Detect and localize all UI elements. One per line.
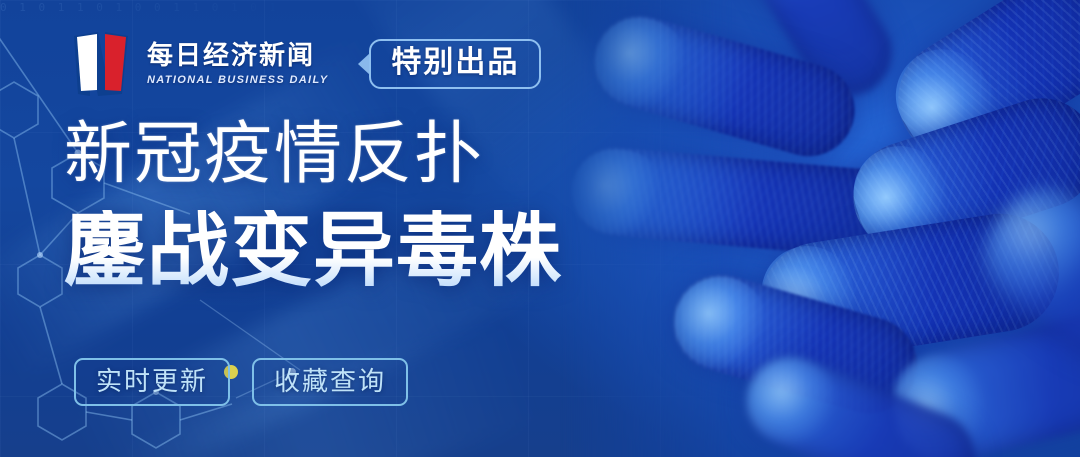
brand-logo-lockup[interactable]: 每日经济新闻 NATIONAL BUSINESS DAILY bbox=[64, 28, 328, 100]
action-buttons: 实时更新 收藏查询 bbox=[74, 358, 408, 406]
banner-header: 每日经济新闻 NATIONAL BUSINESS DAILY 特别出品 bbox=[64, 28, 541, 100]
brand-name-en: NATIONAL BUSINESS DAILY bbox=[147, 75, 328, 86]
headline-block: 新冠疫情反扑 鏖战变异毒株 bbox=[64, 120, 562, 292]
special-edition-badge-label: 特别出品 bbox=[369, 39, 541, 89]
headline-line-1: 新冠疫情反扑 bbox=[64, 120, 562, 188]
favorite-query-button[interactable]: 收藏查询 bbox=[252, 358, 408, 406]
realtime-update-button[interactable]: 实时更新 bbox=[74, 358, 230, 406]
headline-line-2: 鏖战变异毒株 bbox=[64, 210, 562, 292]
brand-name-cn: 每日经济新闻 bbox=[147, 42, 328, 70]
special-edition-badge: 特别出品 bbox=[358, 39, 541, 89]
left-caret-icon bbox=[358, 53, 370, 75]
nbd-m-monogram-icon bbox=[64, 28, 138, 100]
virus-micrograph-artwork bbox=[560, 0, 1080, 457]
brand-name-block: 每日经济新闻 NATIONAL BUSINESS DAILY bbox=[147, 42, 328, 86]
covid-special-report-banner: 0 1 0 1 1 0 1 0 0 1 1 0 1 0 1 1 0 0 1 0 … bbox=[0, 0, 1080, 457]
